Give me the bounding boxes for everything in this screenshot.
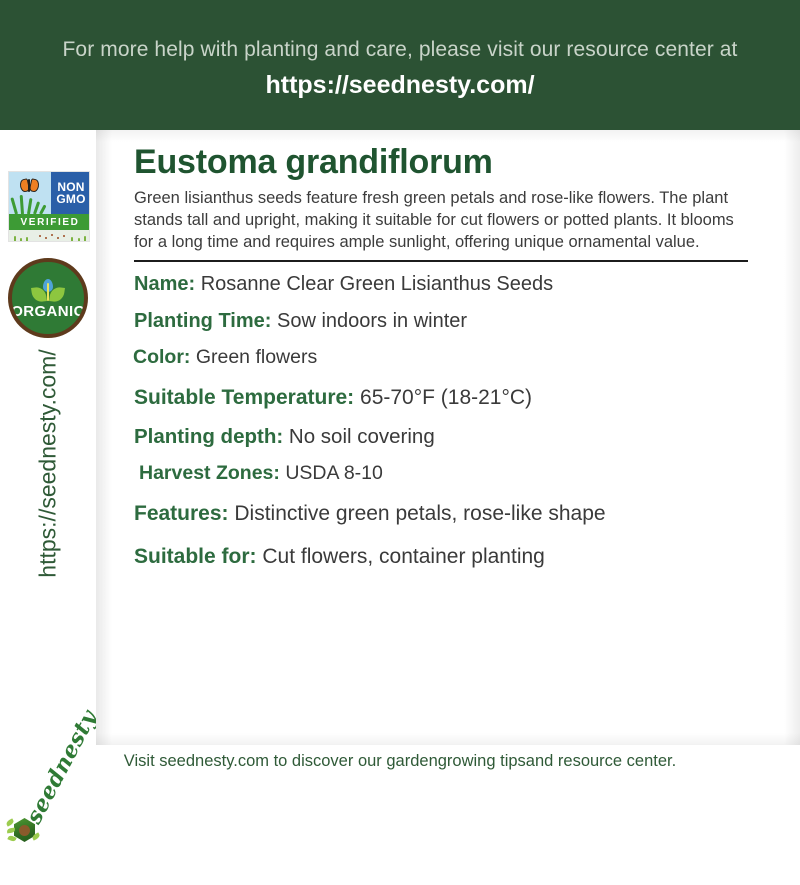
non-gmo-verified-badge: NON GMO VERIFIED <box>8 171 90 242</box>
spec-value: Distinctive green petals, rose-like shap… <box>234 502 605 525</box>
leaf-drop-icon <box>32 279 64 303</box>
spec-row-name: Name: Rosanne Clear Green Lisianthus See… <box>134 270 763 298</box>
spec-value: Rosanne Clear Green Lisianthus Seeds <box>201 273 553 295</box>
spec-label: Features: <box>134 502 229 525</box>
non-gmo-badge-top: NON GMO <box>9 172 90 214</box>
spec-row-suitable-for: Suitable for: Cut flowers, container pla… <box>134 542 763 572</box>
spec-label: Name: <box>134 273 195 295</box>
spec-label: Color: <box>133 346 190 368</box>
header-banner: For more help with planting and care, pl… <box>0 0 800 130</box>
seed-packet-info-card: For more help with planting and care, pl… <box>0 0 800 800</box>
spec-label: Planting Time: <box>134 310 271 332</box>
spec-value: USDA 8-10 <box>285 462 383 484</box>
spec-row-harvest-zones: Harvest Zones: USDA 8-10 <box>139 460 763 488</box>
spec-row-color: Color: Green flowers <box>133 344 763 372</box>
organic-label: ORGANIC <box>11 304 85 319</box>
soil-strip <box>9 230 90 242</box>
spec-label: Suitable for: <box>134 545 257 568</box>
footer-note: Visit seednesty.com to discover our gard… <box>0 752 800 772</box>
non-gmo-sky-panel <box>9 172 51 214</box>
grass-icon <box>9 195 51 214</box>
spec-value: Cut flowers, container planting <box>262 545 545 568</box>
vertical-website-url[interactable]: https://seednesty.com/ <box>35 334 62 594</box>
spec-row-planting-depth: Planting depth: No soil covering <box>134 422 763 451</box>
butterfly-body <box>28 179 30 192</box>
spec-label: Harvest Zones: <box>139 462 280 484</box>
spec-label: Planting depth: <box>134 425 283 448</box>
plant-description: Green lisianthus seeds feature fresh gre… <box>134 188 752 253</box>
brand-logo: seednesty <box>2 780 94 885</box>
spec-value: 65-70°F (18-21°C) <box>360 386 532 409</box>
spec-value: Green flowers <box>196 346 317 368</box>
spec-row-features: Features: Distinctive green petals, rose… <box>134 499 763 529</box>
non-gmo-text-panel: NON GMO <box>51 172 90 214</box>
organic-seal-badge: ORGANIC <box>8 258 88 338</box>
butterfly-icon <box>20 178 39 193</box>
section-divider <box>134 260 748 262</box>
spec-label: Suitable Temperature: <box>134 386 354 409</box>
spec-value: No soil covering <box>289 425 435 448</box>
wheat-stem <box>47 283 49 301</box>
page-title: Eustoma grandiflorum <box>134 144 763 181</box>
main-content-panel: Eustoma grandiflorum Green lisianthus se… <box>96 130 800 745</box>
brand-wordmark: seednesty <box>21 722 94 828</box>
spec-list: Name: Rosanne Clear Green Lisianthus See… <box>133 270 763 572</box>
spec-value: Sow indoors in winter <box>277 310 467 332</box>
content-inner: Eustoma grandiflorum Green lisianthus se… <box>133 144 763 571</box>
non-gmo-line-2: GMO <box>56 193 85 205</box>
seed-core <box>19 825 30 836</box>
header-website-url[interactable]: https://seednesty.com/ <box>265 71 534 100</box>
left-sidebar-rail: NON GMO VERIFIED <box>0 130 96 800</box>
header-help-text: For more help with planting and care, pl… <box>63 38 738 62</box>
spec-row-planting-time: Planting Time: Sow indoors in winter <box>134 307 763 335</box>
verified-bar: VERIFIED <box>9 214 90 230</box>
butterfly-wing-right <box>29 178 41 193</box>
spec-row-suitable-temperature: Suitable Temperature: 65-70°F (18-21°C) <box>134 383 763 413</box>
